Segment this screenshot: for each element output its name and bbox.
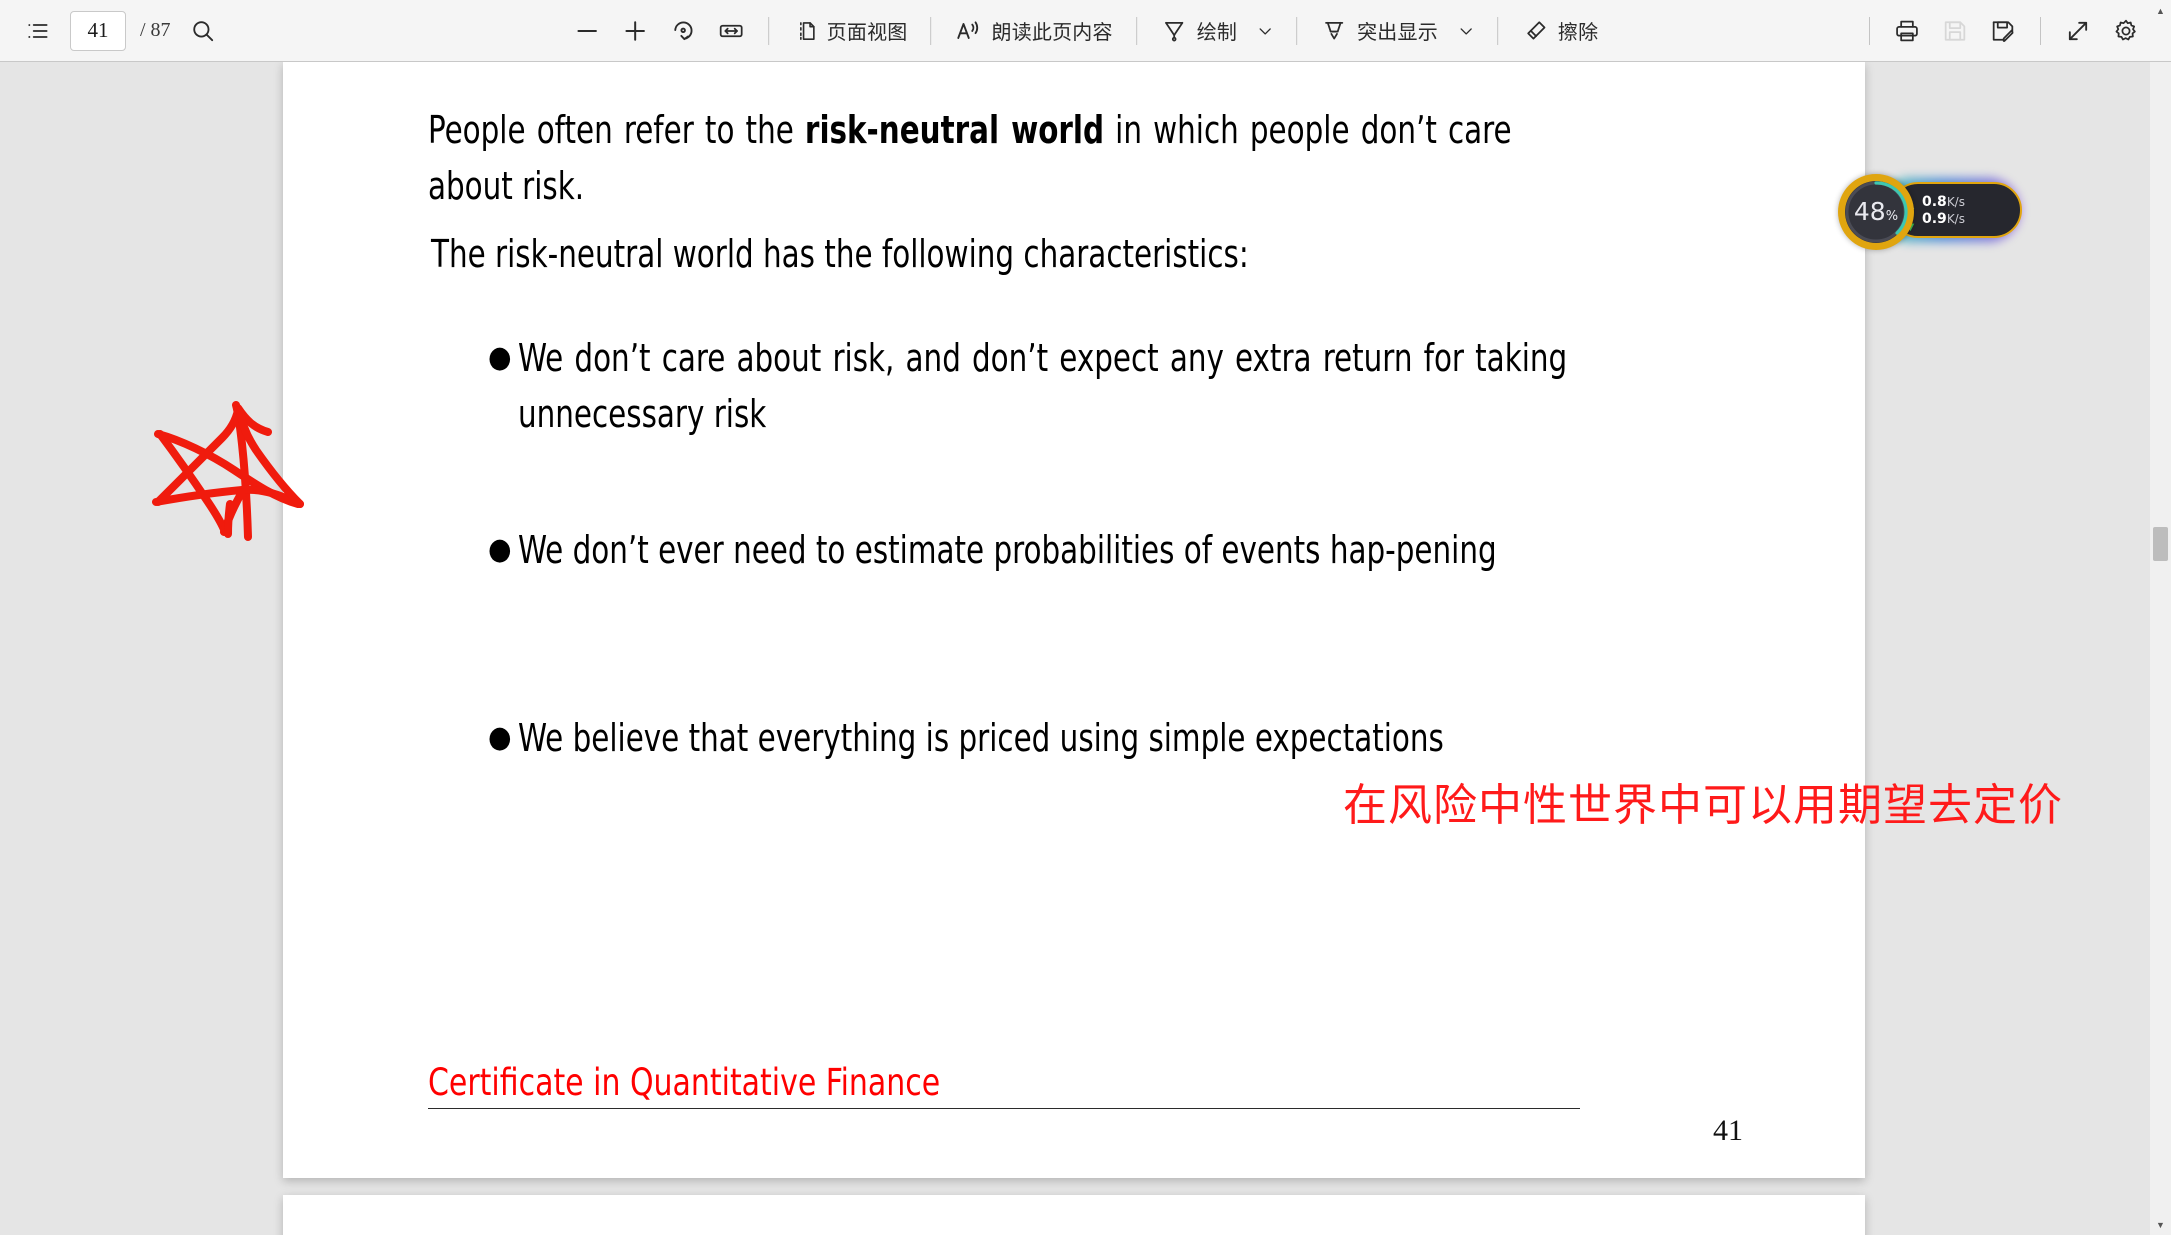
highlight-options-dropdown[interactable]	[1449, 9, 1483, 53]
fullscreen-button[interactable]	[2055, 9, 2101, 53]
paragraph-1-text-a: People often refer to the	[428, 108, 805, 152]
print-button[interactable]	[1884, 9, 1930, 53]
save-as-icon	[1989, 17, 2017, 45]
scroll-up-arrow[interactable]: ▲	[2150, 0, 2171, 21]
list-item-text: We believe that everything is priced usi…	[518, 710, 1610, 766]
page-number-input[interactable]: 41	[70, 11, 126, 51]
list-item: ● We believe that everything is priced u…	[488, 710, 1788, 766]
page-total-label: / 87	[140, 19, 171, 42]
minus-icon	[573, 17, 601, 45]
highlight-label: 突出显示	[1357, 16, 1438, 45]
toolbar-divider	[768, 17, 769, 45]
chinese-ink-annotation: 在风险中性世界中可以用期望去定价	[1343, 780, 2063, 832]
zoom-in-button[interactable]	[612, 9, 658, 53]
page-view-label: 页面视图	[827, 16, 908, 45]
toolbar-right-group	[1857, 9, 2149, 53]
system-monitor-widget[interactable]: ▲ ▼ 0.8K/s 0.9K/s 48 %	[1838, 174, 2026, 246]
paragraph-2: The risk-neutral world has the following…	[431, 226, 1549, 282]
toolbar-divider	[930, 17, 931, 45]
paragraph-1-bold-term: risk-neutral world	[805, 108, 1104, 152]
pdf-viewer-area[interactable]: People often refer to the risk-neutral w…	[0, 62, 2150, 1235]
upload-rate-row: 0.8K/s	[1922, 194, 2020, 210]
list-item: ● We don’t ever need to estimate probabi…	[488, 522, 1738, 578]
settings-button[interactable]	[2103, 9, 2149, 53]
pen-icon	[1160, 17, 1188, 45]
outline-toggle-button[interactable]	[16, 9, 60, 53]
chevron-down-icon	[1255, 21, 1275, 41]
upload-rate-unit: K/s	[1947, 195, 1965, 209]
toolbar-divider	[1869, 17, 1870, 45]
highlighter-icon	[1320, 17, 1348, 45]
pdf-page-42[interactable]	[283, 1195, 1865, 1235]
fit-width-icon	[717, 17, 745, 45]
fit-width-button[interactable]	[708, 9, 754, 53]
download-rate-unit: K/s	[1947, 212, 1965, 226]
eraser-icon	[1521, 17, 1549, 45]
page-view-icon	[792, 18, 818, 44]
draw-label: 绘制	[1197, 16, 1237, 45]
highlight-button[interactable]: 突出显示	[1311, 9, 1447, 53]
toolbar-left-group: 41 / 87	[0, 9, 225, 53]
footer-page-number: 41	[1713, 1114, 1743, 1148]
download-rate-value: 0.9	[1922, 211, 1947, 227]
bullet-marker: ●	[488, 522, 518, 578]
list-outline-icon	[25, 18, 51, 44]
scrollbar-thumb[interactable]	[2153, 527, 2168, 561]
print-icon	[1893, 17, 1921, 45]
search-icon	[190, 18, 216, 44]
toolbar-divider	[2040, 17, 2041, 45]
bullet-marker: ●	[488, 330, 518, 386]
vertical-scrollbar[interactable]: ▲ ▼	[2150, 62, 2171, 1235]
scroll-down-arrow[interactable]: ▼	[2150, 1214, 2171, 1235]
footer-rule	[428, 1108, 1580, 1109]
bullet-marker: ●	[488, 710, 518, 766]
plus-icon	[621, 17, 649, 45]
rotate-button[interactable]	[660, 9, 706, 53]
footer-brand-text: Certificate in Quantitative Finance	[428, 1062, 940, 1104]
paragraph-1: People often refer to the risk-neutral w…	[428, 102, 1512, 214]
list-item-text: We don’t care about risk, and don’t expe…	[518, 330, 1567, 442]
zoom-out-button[interactable]	[564, 9, 610, 53]
rotate-icon	[669, 17, 697, 45]
download-rate-row: 0.9K/s	[1922, 211, 2020, 227]
page-content: People often refer to the risk-neutral w…	[283, 62, 1865, 1178]
pdf-page-41[interactable]: People often refer to the risk-neutral w…	[283, 62, 1865, 1178]
chevron-down-icon	[1456, 21, 1476, 41]
save-button[interactable]	[1932, 9, 1978, 53]
erase-button[interactable]: 擦除	[1512, 9, 1607, 53]
read-aloud-label: 朗读此页内容	[991, 16, 1112, 45]
pdf-toolbar: 41 / 87	[0, 0, 2171, 62]
toolbar-divider	[1497, 17, 1498, 45]
gear-icon	[2112, 17, 2140, 45]
search-button[interactable]	[181, 9, 225, 53]
cpu-usage-ring[interactable]: 48 %	[1838, 174, 1914, 250]
toolbar-divider	[1136, 17, 1137, 45]
page-view-button[interactable]: 页面视图	[783, 9, 917, 53]
list-item: ● We don’t care about risk, and don’t ex…	[488, 330, 1738, 442]
read-aloud-button[interactable]: 朗读此页内容	[945, 9, 1121, 53]
read-aloud-icon	[954, 17, 982, 45]
save-as-button[interactable]	[1980, 9, 2026, 53]
draw-options-dropdown[interactable]	[1248, 9, 1282, 53]
cpu-usage-arc	[1843, 179, 1909, 245]
upload-rate-value: 0.8	[1922, 194, 1947, 210]
list-item-text: We don’t ever need to estimate probabili…	[518, 522, 1567, 578]
erase-label: 擦除	[1558, 16, 1598, 45]
expand-diagonal-icon	[2064, 17, 2092, 45]
draw-button[interactable]: 绘制	[1151, 9, 1246, 53]
save-icon	[1941, 17, 1969, 45]
toolbar-divider	[1296, 17, 1297, 45]
toolbar-center-group: 页面视图 朗读此页内容	[564, 9, 1608, 53]
